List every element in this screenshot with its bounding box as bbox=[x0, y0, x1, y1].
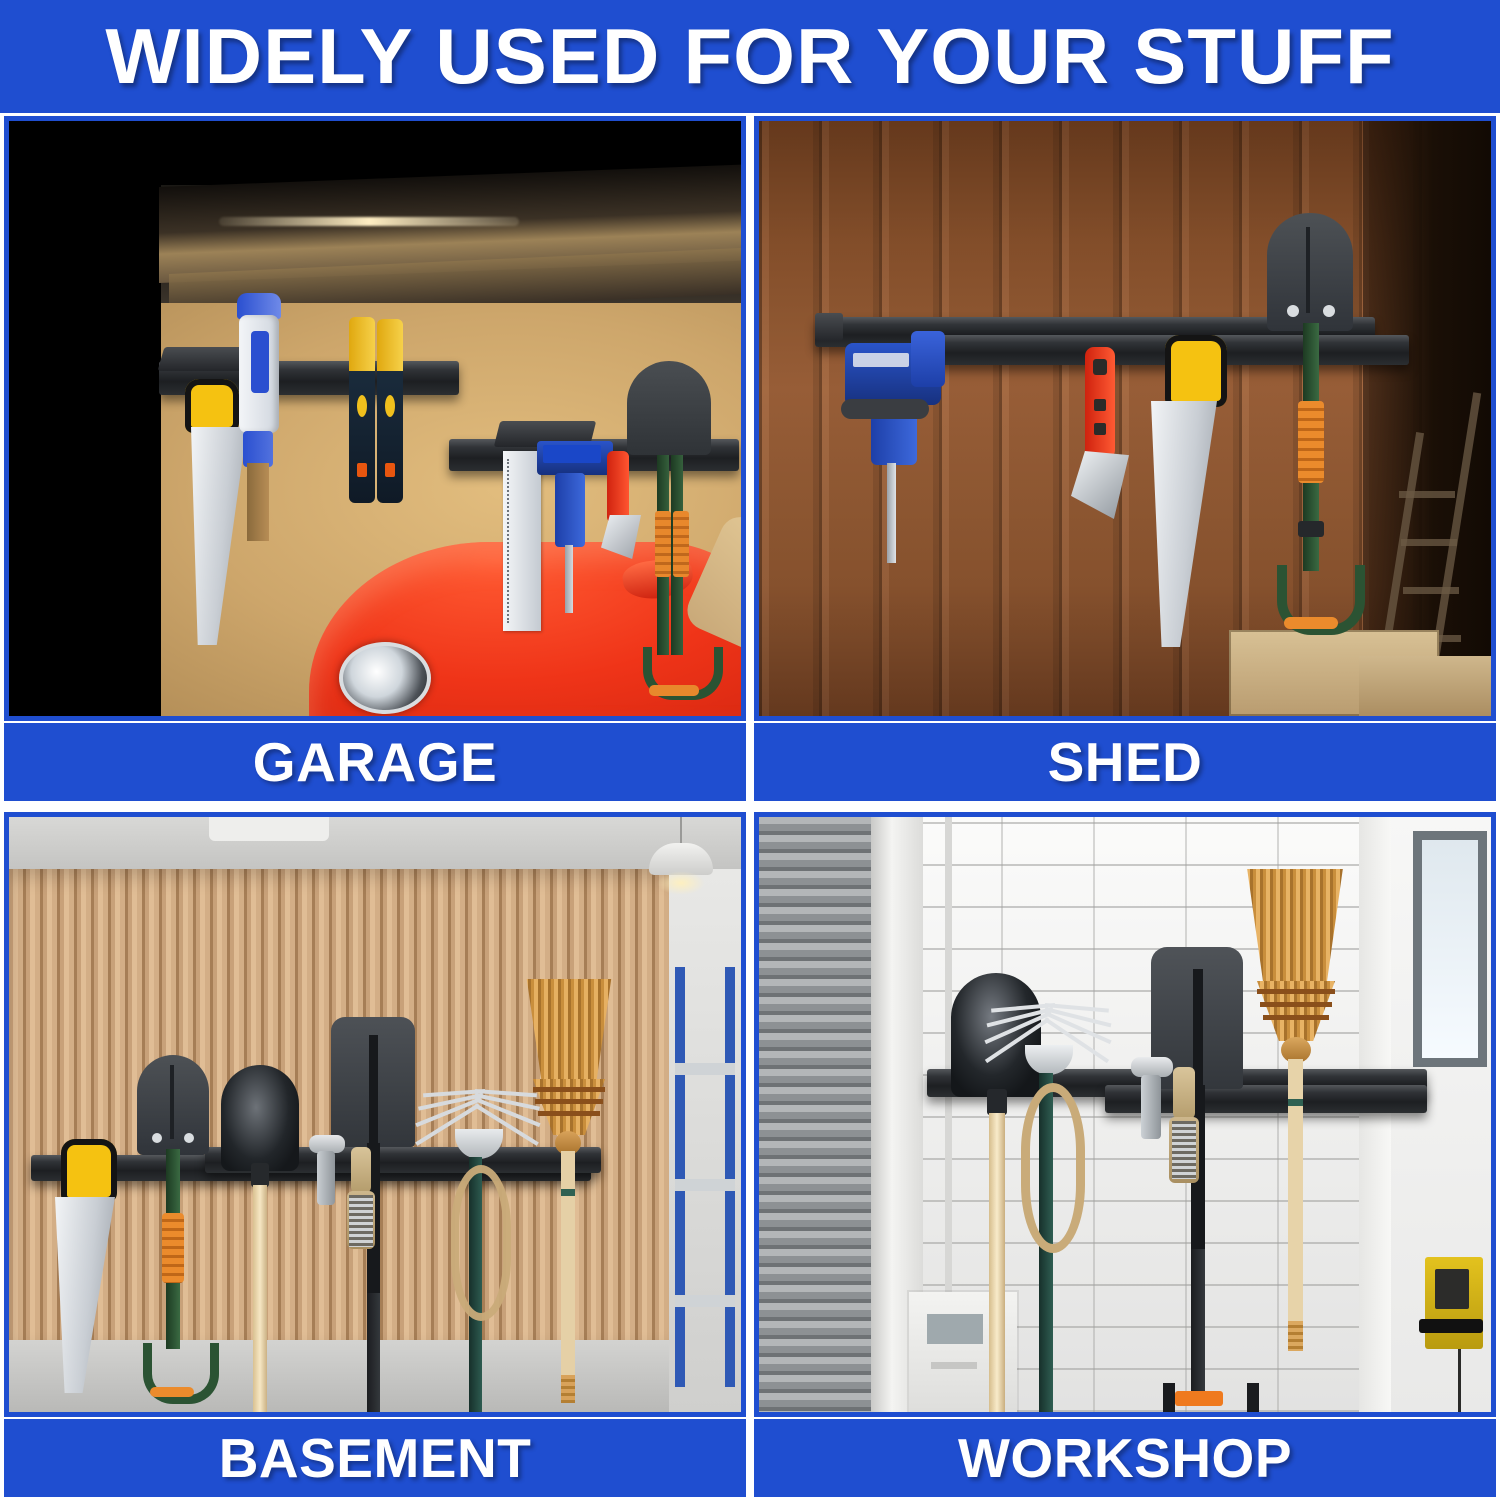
saw-grip bbox=[1165, 335, 1227, 407]
page-title: WIDELY USED FOR YOUR STUFF bbox=[105, 11, 1394, 102]
panel-basement-caption: BASEMENT bbox=[4, 1419, 746, 1497]
product-infographic: WIDELY USED FOR YOUR STUFF bbox=[0, 0, 1500, 1497]
lamp-cord bbox=[680, 817, 682, 845]
electrical-box-yellow bbox=[1425, 1257, 1483, 1349]
panel-basement-photo bbox=[4, 812, 746, 1417]
panel-shed-photo bbox=[754, 116, 1496, 721]
wall-corner bbox=[1359, 817, 1395, 1412]
panel-basement-label: BASEMENT bbox=[219, 1426, 532, 1490]
panel-shed[interactable]: SHED bbox=[754, 116, 1496, 801]
roller-shutter-door bbox=[759, 817, 879, 1412]
panel-garage-label: GARAGE bbox=[253, 730, 497, 794]
panel-shed-label: SHED bbox=[1048, 730, 1203, 794]
lamp-glow bbox=[657, 871, 705, 895]
shed-scene bbox=[759, 121, 1491, 716]
ceiling-vent bbox=[209, 817, 329, 841]
panel-grid: GARAGE bbox=[0, 116, 1500, 1497]
pendant-lamp bbox=[649, 817, 713, 877]
panel-basement[interactable]: BASEMENT bbox=[4, 812, 746, 1497]
panel-workshop[interactable]: WORKSHOP bbox=[754, 812, 1496, 1497]
garage-scene bbox=[9, 121, 741, 716]
basement-scene bbox=[9, 817, 741, 1412]
workshop-scene bbox=[759, 817, 1491, 1412]
panel-shed-caption: SHED bbox=[754, 723, 1496, 801]
tool-rail-end-cap bbox=[815, 313, 843, 341]
panel-garage-caption: GARAGE bbox=[4, 723, 746, 801]
car-headlight-icon bbox=[339, 642, 431, 714]
cardboard-box-secondary bbox=[1359, 656, 1496, 716]
panel-garage-photo bbox=[4, 116, 746, 721]
panel-workshop-caption: WORKSHOP bbox=[754, 1419, 1496, 1497]
garage-ceiling-light bbox=[219, 217, 519, 226]
window bbox=[1413, 831, 1487, 1067]
basement-ceiling bbox=[9, 817, 741, 875]
electrical-cord bbox=[1458, 1349, 1461, 1417]
saw-grip bbox=[61, 1139, 117, 1203]
header-banner: WIDELY USED FOR YOUR STUFF bbox=[0, 0, 1500, 113]
panel-workshop-label: WORKSHOP bbox=[958, 1426, 1292, 1490]
saw-grip bbox=[185, 379, 239, 433]
panel-workshop-photo bbox=[754, 812, 1496, 1417]
panel-garage[interactable]: GARAGE bbox=[4, 116, 746, 801]
storage-shelf bbox=[673, 967, 739, 1387]
